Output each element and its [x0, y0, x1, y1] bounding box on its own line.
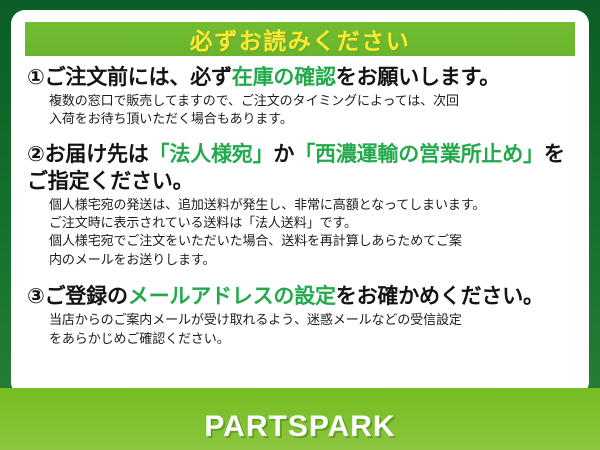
- notice-title-bar: 必ずお読みください: [25, 22, 575, 56]
- notice-item-1-heading: ①ご注文前には、必ず在庫の確認をお願いします。: [27, 64, 575, 91]
- notice-item-2-body-line-3: 個人様宅宛でご注文をいただいた場合、送料を再計算しあらためてご案: [49, 233, 575, 251]
- notice-item-1: ①ご注文前には、必ず在庫の確認をお願いします。 複数の窓口で販売してますので、ご…: [27, 64, 575, 130]
- notice-item-3-body-line-1: 当店からのご案内メールが受け取れるよう、迷惑メールなどの受信設定: [49, 312, 575, 330]
- notice-item-1-body: 複数の窓口で販売してますので、ご注文のタイミングによっては、次回 入荷をお待ち頂…: [49, 93, 575, 130]
- notice-item-2-head-pre: お届け先は: [45, 142, 149, 166]
- brand-logo: PARTSPARK: [0, 410, 600, 444]
- notice-title: 必ずお読みください: [190, 22, 411, 56]
- notice-item-2-body-line-1: 個人様宅宛の発送は、追加送料が発生し、非常に高額となってしまいます。: [49, 197, 575, 215]
- notice-item-2-highlight-2: 「西濃運輸の営業所止め」: [294, 142, 544, 166]
- notice-banner: 必ずお読みください ①ご注文前には、必ず在庫の確認をお願いします。 複数の窓口で…: [0, 0, 600, 450]
- notice-card: 必ずお読みください ①ご注文前には、必ず在庫の確認をお願いします。 複数の窓口で…: [11, 10, 589, 396]
- notice-item-3-body-line-2: をあらかじめご確認ください。: [49, 331, 575, 349]
- notice-content: ①ご注文前には、必ず在庫の確認をお願いします。 複数の窓口で販売してますので、ご…: [27, 64, 575, 351]
- notice-item-1-highlight: 在庫の確認: [232, 65, 336, 89]
- notice-item-3-body: 当店からのご案内メールが受け取れるよう、迷惑メールなどの受信設定 をあらかじめご…: [49, 312, 575, 349]
- notice-item-1-marker: ①: [27, 65, 45, 89]
- notice-item-3-head-pre: ご登録の: [45, 284, 128, 308]
- notice-item-3: ③ご登録のメールアドレスの設定をお確かめください。 当店からのご案内メールが受け…: [27, 283, 575, 349]
- notice-item-1-body-line-1: 複数の窓口で販売してますので、ご注文のタイミングによっては、次回: [49, 93, 575, 111]
- notice-item-3-marker: ③: [27, 284, 45, 308]
- notice-item-3-head-post: をお確かめください。: [336, 284, 544, 308]
- notice-item-3-heading: ③ご登録のメールアドレスの設定をお確かめください。: [27, 283, 575, 310]
- notice-item-2-body: 個人様宅宛の発送は、追加送料が発生し、非常に高額となってしまいます。 ご注文時に…: [49, 197, 575, 271]
- notice-item-2-body-line-4: 内のメールをお送りします。: [49, 252, 575, 270]
- notice-item-1-head-pre: ご注文前には、必ず: [45, 65, 232, 89]
- notice-item-2: ②お届け先は「法人様宛」か「西濃運輸の営業所止め」をご指定ください。 個人様宅宛…: [27, 141, 575, 271]
- notice-item-1-body-line-2: 入荷をお待ち頂いただく場合もあります。: [49, 111, 575, 129]
- notice-item-3-highlight: メールアドレスの設定: [128, 284, 336, 308]
- notice-item-2-marker: ②: [27, 142, 45, 166]
- notice-item-1-head-post: をお願いします。: [336, 65, 500, 89]
- notice-item-2-body-line-2: ご注文時に表示されている送料は「法人送料」です。: [49, 215, 575, 233]
- notice-item-2-head-mid: か: [273, 142, 294, 166]
- notice-item-2-highlight: 「法人様宛」: [149, 142, 274, 166]
- notice-item-2-heading: ②お届け先は「法人様宛」か「西濃運輸の営業所止め」をご指定ください。: [27, 141, 575, 195]
